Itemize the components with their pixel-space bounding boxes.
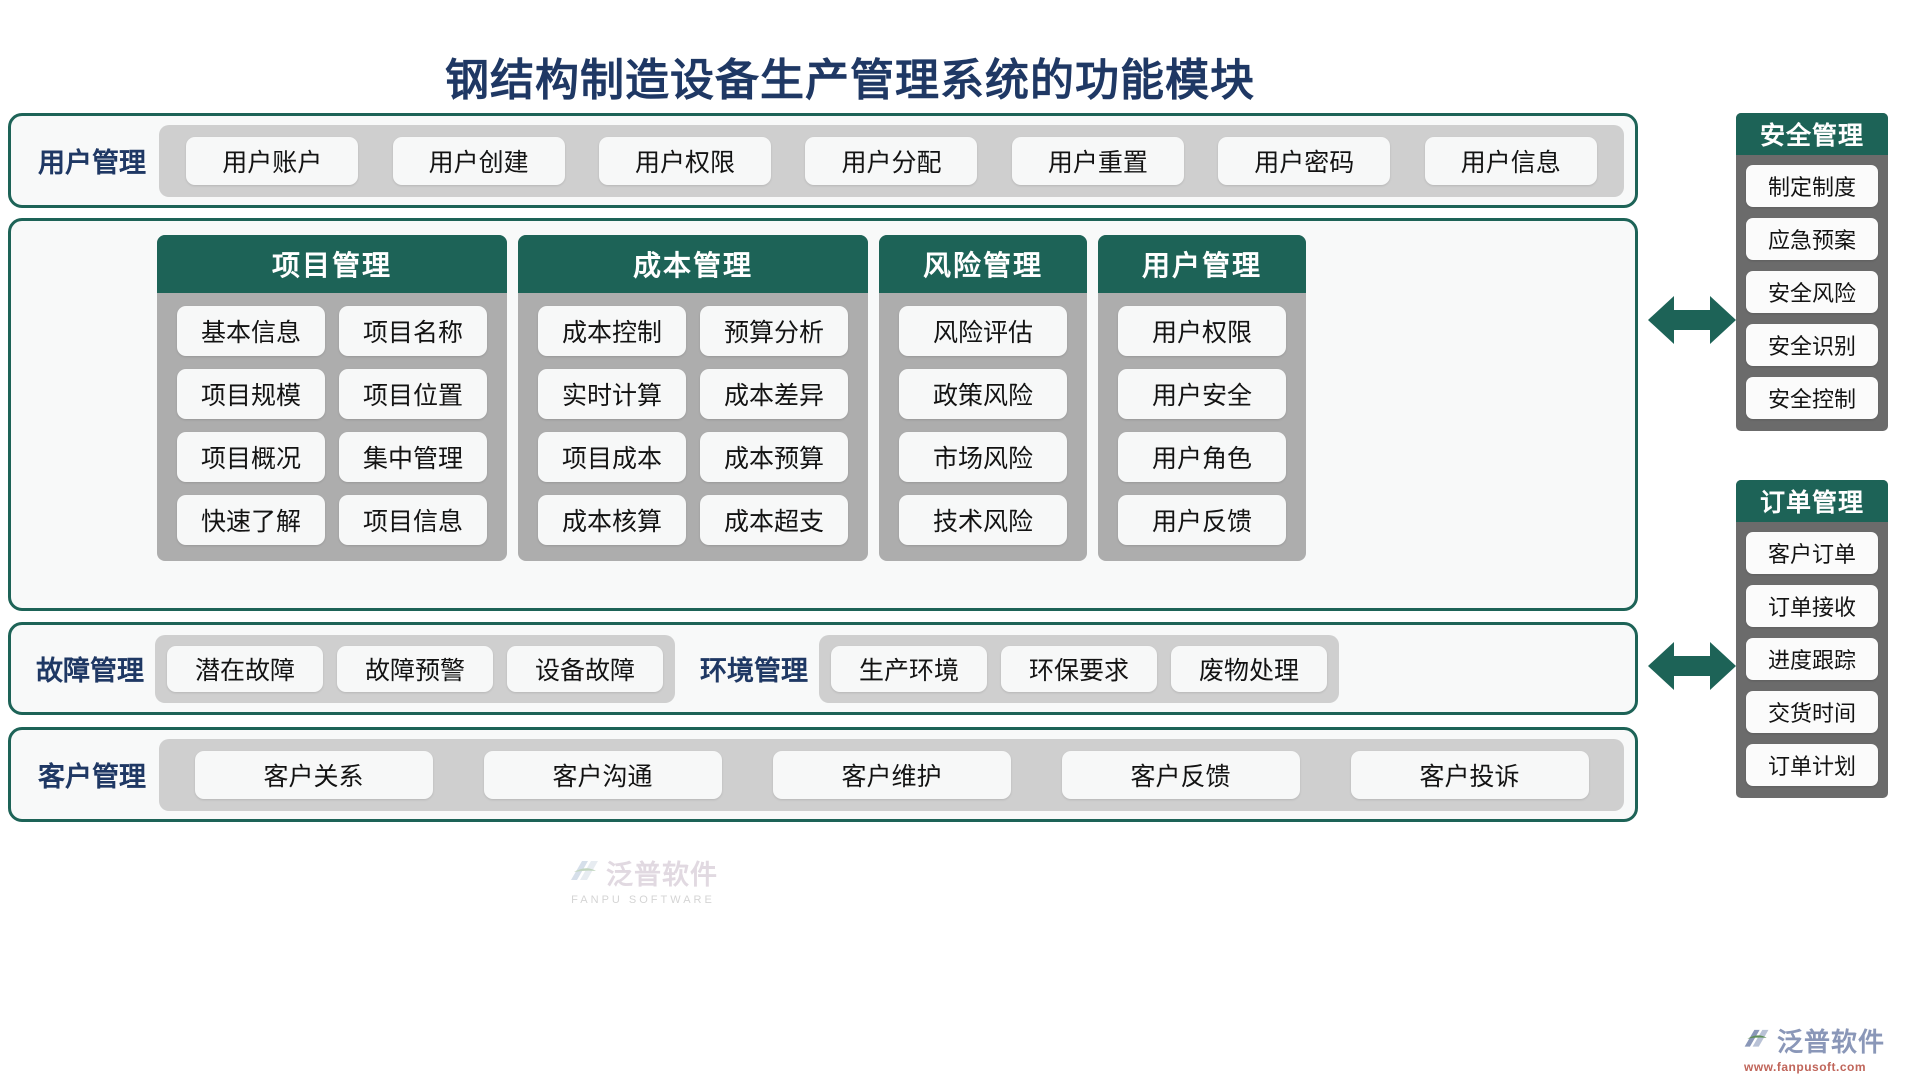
module-group-body-project: 基本信息项目名称项目规模项目位置项目概况集中管理快速了解项目信息 <box>157 293 507 561</box>
safety-management-item[interactable]: 安全识别 <box>1746 324 1878 366</box>
module-group-header-user: 用户管理 <box>1098 235 1306 293</box>
customer-management-item[interactable]: 客户维护 <box>773 751 1011 799</box>
section-label-user-management: 用户管理 <box>27 116 157 205</box>
fault-management-item[interactable]: 故障预警 <box>337 646 493 692</box>
module-pill-row: 项目概况集中管理 <box>169 432 495 482</box>
watermark: 泛普软件 FANPU SOFTWARE <box>538 853 748 906</box>
environment-management-item[interactable]: 环保要求 <box>1001 646 1157 692</box>
module-item-project[interactable]: 集中管理 <box>339 432 487 482</box>
module-item-project[interactable]: 项目信息 <box>339 495 487 545</box>
environment-management-item-tray: 生产环境环保要求废物处理 <box>819 635 1339 703</box>
user-management-item[interactable]: 用户权限 <box>599 137 771 185</box>
module-group-body-risk: 风险评估政策风险市场风险技术风险 <box>879 293 1087 561</box>
module-pill-row: 实时计算成本差异 <box>530 369 856 419</box>
double-arrow-icon-order <box>1648 638 1736 694</box>
module-item-project[interactable]: 项目概况 <box>177 432 325 482</box>
module-group-body-cost: 成本控制预算分析实时计算成本差异项目成本成本预算成本核算成本超支 <box>518 293 868 561</box>
module-pill-row: 市场风险 <box>891 432 1075 482</box>
module-pill-row: 项目规模项目位置 <box>169 369 495 419</box>
customer-management-item-tray: 客户关系客户沟通客户维护客户反馈客户投诉 <box>159 739 1624 811</box>
fanpu-logo-icon <box>1742 1027 1772 1054</box>
customer-management-item[interactable]: 客户关系 <box>195 751 433 799</box>
module-pill-row: 成本控制预算分析 <box>530 306 856 356</box>
module-item-project[interactable]: 项目规模 <box>177 369 325 419</box>
section-label-fault-management: 故障管理 <box>25 649 155 688</box>
module-item-project[interactable]: 快速了解 <box>177 495 325 545</box>
module-item-user2[interactable]: 用户权限 <box>1118 306 1286 356</box>
safety-management-item[interactable]: 应急预案 <box>1746 218 1878 260</box>
panel-safety-management: 安全管理 制定制度应急预案安全风险安全识别安全控制 <box>1736 113 1888 431</box>
subsection-environment-management: 环境管理 生产环境环保要求废物处理 <box>689 625 1339 712</box>
module-item-risk[interactable]: 政策风险 <box>899 369 1067 419</box>
safety-management-item[interactable]: 安全控制 <box>1746 377 1878 419</box>
module-group-risk: 风险管理 风险评估政策风险市场风险技术风险 <box>879 235 1087 561</box>
double-arrow-icon-safety <box>1648 292 1736 348</box>
watermark-top: 泛普软件 <box>568 853 718 892</box>
module-pill-row: 基本信息项目名称 <box>169 306 495 356</box>
environment-management-item[interactable]: 生产环境 <box>831 646 987 692</box>
diagram-canvas: 钢结构制造设备生产管理系统的功能模块 用户管理 用户账户用户创建用户权限用户分配… <box>0 0 1920 1080</box>
module-item-cost[interactable]: 成本差异 <box>700 369 848 419</box>
module-pill-row: 用户反馈 <box>1110 495 1294 545</box>
panel-body-safety-management: 制定制度应急预案安全风险安全识别安全控制 <box>1736 155 1888 431</box>
panel-header-safety-management: 安全管理 <box>1736 113 1888 155</box>
module-group-header-project: 项目管理 <box>157 235 507 293</box>
watermark-text: 泛普软件 <box>606 853 718 892</box>
user-management-item[interactable]: 用户密码 <box>1218 137 1390 185</box>
fault-management-item[interactable]: 潜在故障 <box>167 646 323 692</box>
customer-management-item[interactable]: 客户反馈 <box>1062 751 1300 799</box>
module-item-risk[interactable]: 技术风险 <box>899 495 1067 545</box>
module-item-project[interactable]: 项目名称 <box>339 306 487 356</box>
brand-logo: 泛普软件 www.fanpusoft.com <box>1742 1022 1885 1074</box>
order-management-item[interactable]: 订单接收 <box>1746 585 1878 627</box>
section-label-customer-management: 客户管理 <box>27 730 157 819</box>
module-group-header-risk: 风险管理 <box>879 235 1087 293</box>
module-pill-row: 快速了解项目信息 <box>169 495 495 545</box>
module-group-body-user: 用户权限用户安全用户角色用户反馈 <box>1098 293 1306 561</box>
user-management-item[interactable]: 用户重置 <box>1012 137 1184 185</box>
brand-logo-top: 泛普软件 <box>1742 1022 1885 1059</box>
user-management-item[interactable]: 用户账户 <box>186 137 358 185</box>
module-item-cost[interactable]: 预算分析 <box>700 306 848 356</box>
fault-management-item[interactable]: 设备故障 <box>507 646 663 692</box>
order-management-item[interactable]: 交货时间 <box>1746 691 1878 733</box>
module-item-cost[interactable]: 实时计算 <box>538 369 686 419</box>
brand-logo-text: 泛普软件 <box>1777 1022 1885 1059</box>
module-item-cost[interactable]: 成本核算 <box>538 495 686 545</box>
module-item-user2[interactable]: 用户反馈 <box>1118 495 1286 545</box>
module-pill-row: 政策风险 <box>891 369 1075 419</box>
order-management-item[interactable]: 客户订单 <box>1746 532 1878 574</box>
module-item-cost[interactable]: 成本控制 <box>538 306 686 356</box>
module-pill-row: 项目成本成本预算 <box>530 432 856 482</box>
customer-management-item[interactable]: 客户沟通 <box>484 751 722 799</box>
module-item-project[interactable]: 项目位置 <box>339 369 487 419</box>
module-pill-row: 成本核算成本超支 <box>530 495 856 545</box>
subsection-fault-management: 故障管理 潜在故障故障预警设备故障 <box>25 625 675 712</box>
module-group-cost: 成本管理 成本控制预算分析实时计算成本差异项目成本成本预算成本核算成本超支 <box>518 235 868 561</box>
module-pill-row: 技术风险 <box>891 495 1075 545</box>
panel-order-management: 订单管理 客户订单订单接收进度跟踪交货时间订单计划 <box>1736 480 1888 798</box>
customer-management-item[interactable]: 客户投诉 <box>1351 751 1589 799</box>
environment-management-item[interactable]: 废物处理 <box>1171 646 1327 692</box>
module-pill-row: 用户安全 <box>1110 369 1294 419</box>
module-item-cost[interactable]: 成本超支 <box>700 495 848 545</box>
user-management-item-tray: 用户账户用户创建用户权限用户分配用户重置用户密码用户信息 <box>159 125 1624 197</box>
module-pill-row: 用户权限 <box>1110 306 1294 356</box>
fanpu-logo-icon <box>568 858 602 888</box>
module-pill-row: 用户角色 <box>1110 432 1294 482</box>
module-item-cost[interactable]: 项目成本 <box>538 432 686 482</box>
module-pill-row: 风险评估 <box>891 306 1075 356</box>
fault-management-item-tray: 潜在故障故障预警设备故障 <box>155 635 675 703</box>
module-item-user2[interactable]: 用户安全 <box>1118 369 1286 419</box>
module-item-risk[interactable]: 风险评估 <box>899 306 1067 356</box>
watermark-subtext: FANPU SOFTWARE <box>571 894 715 906</box>
section-customer-management: 客户管理 客户关系客户沟通客户维护客户反馈客户投诉 <box>8 727 1638 822</box>
order-management-item[interactable]: 订单计划 <box>1746 744 1878 786</box>
section-user-management: 用户管理 用户账户用户创建用户权限用户分配用户重置用户密码用户信息 <box>8 113 1638 208</box>
section-fault-and-environment: 故障管理 潜在故障故障预警设备故障 环境管理 生产环境环保要求废物处理 <box>8 622 1638 715</box>
panel-body-order-management: 客户订单订单接收进度跟踪交货时间订单计划 <box>1736 522 1888 798</box>
page-title: 钢结构制造设备生产管理系统的功能模块 <box>0 44 1700 108</box>
order-management-item[interactable]: 进度跟踪 <box>1746 638 1878 680</box>
user-management-item[interactable]: 用户分配 <box>805 137 977 185</box>
module-item-cost[interactable]: 成本预算 <box>700 432 848 482</box>
module-group-user: 用户管理 用户权限用户安全用户角色用户反馈 <box>1098 235 1306 561</box>
safety-management-item[interactable]: 制定制度 <box>1746 165 1878 207</box>
user-management-item[interactable]: 用户创建 <box>393 137 565 185</box>
module-item-project[interactable]: 基本信息 <box>177 306 325 356</box>
section-label-environment-management: 环境管理 <box>689 649 819 688</box>
safety-management-item[interactable]: 安全风险 <box>1746 271 1878 313</box>
section-core-modules: 项目管理 基本信息项目名称项目规模项目位置项目概况集中管理快速了解项目信息 成本… <box>8 218 1638 611</box>
module-group-header-cost: 成本管理 <box>518 235 868 293</box>
module-item-risk[interactable]: 市场风险 <box>899 432 1067 482</box>
user-management-item[interactable]: 用户信息 <box>1425 137 1597 185</box>
module-group-project: 项目管理 基本信息项目名称项目规模项目位置项目概况集中管理快速了解项目信息 <box>157 235 507 561</box>
module-item-user2[interactable]: 用户角色 <box>1118 432 1286 482</box>
brand-logo-url: www.fanpusoft.com <box>1744 1060 1866 1074</box>
panel-header-order-management: 订单管理 <box>1736 480 1888 522</box>
